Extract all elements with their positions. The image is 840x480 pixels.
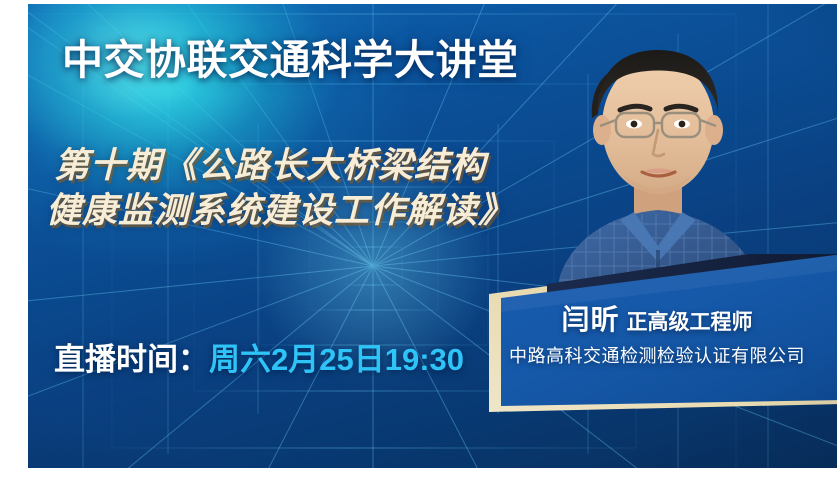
episode-subtitle: 第十期《公路长大桥梁结构 健康监测系统建设工作解读》 <box>54 144 594 234</box>
page-title: 中交协联交通科学大讲堂 <box>62 26 519 86</box>
subtitle-line-1: 第十期《公路长大桥梁结构 <box>54 146 486 185</box>
speaker-name-card: 闫昕正高级工程师 中路高科交通检测检验认证有限公司 <box>483 254 837 444</box>
subtitle-line-2: 健康监测系统建设工作解读》 <box>46 189 594 234</box>
poster-artwork-stage: 中交协联交通科学大讲堂 第十期《公路长大桥梁结构 健康监测系统建设工作解读》 直… <box>28 4 837 468</box>
live-stream-poster: 中交协联交通科学大讲堂 第十期《公路长大桥梁结构 健康监测系统建设工作解读》 直… <box>0 0 840 480</box>
speaker-card-shape <box>483 254 837 444</box>
live-time-label: 直播时间： <box>54 342 209 377</box>
live-time-row: 直播时间：周六2月25日19:30 <box>54 334 464 379</box>
live-time-value: 周六2月25日19:30 <box>209 342 464 377</box>
